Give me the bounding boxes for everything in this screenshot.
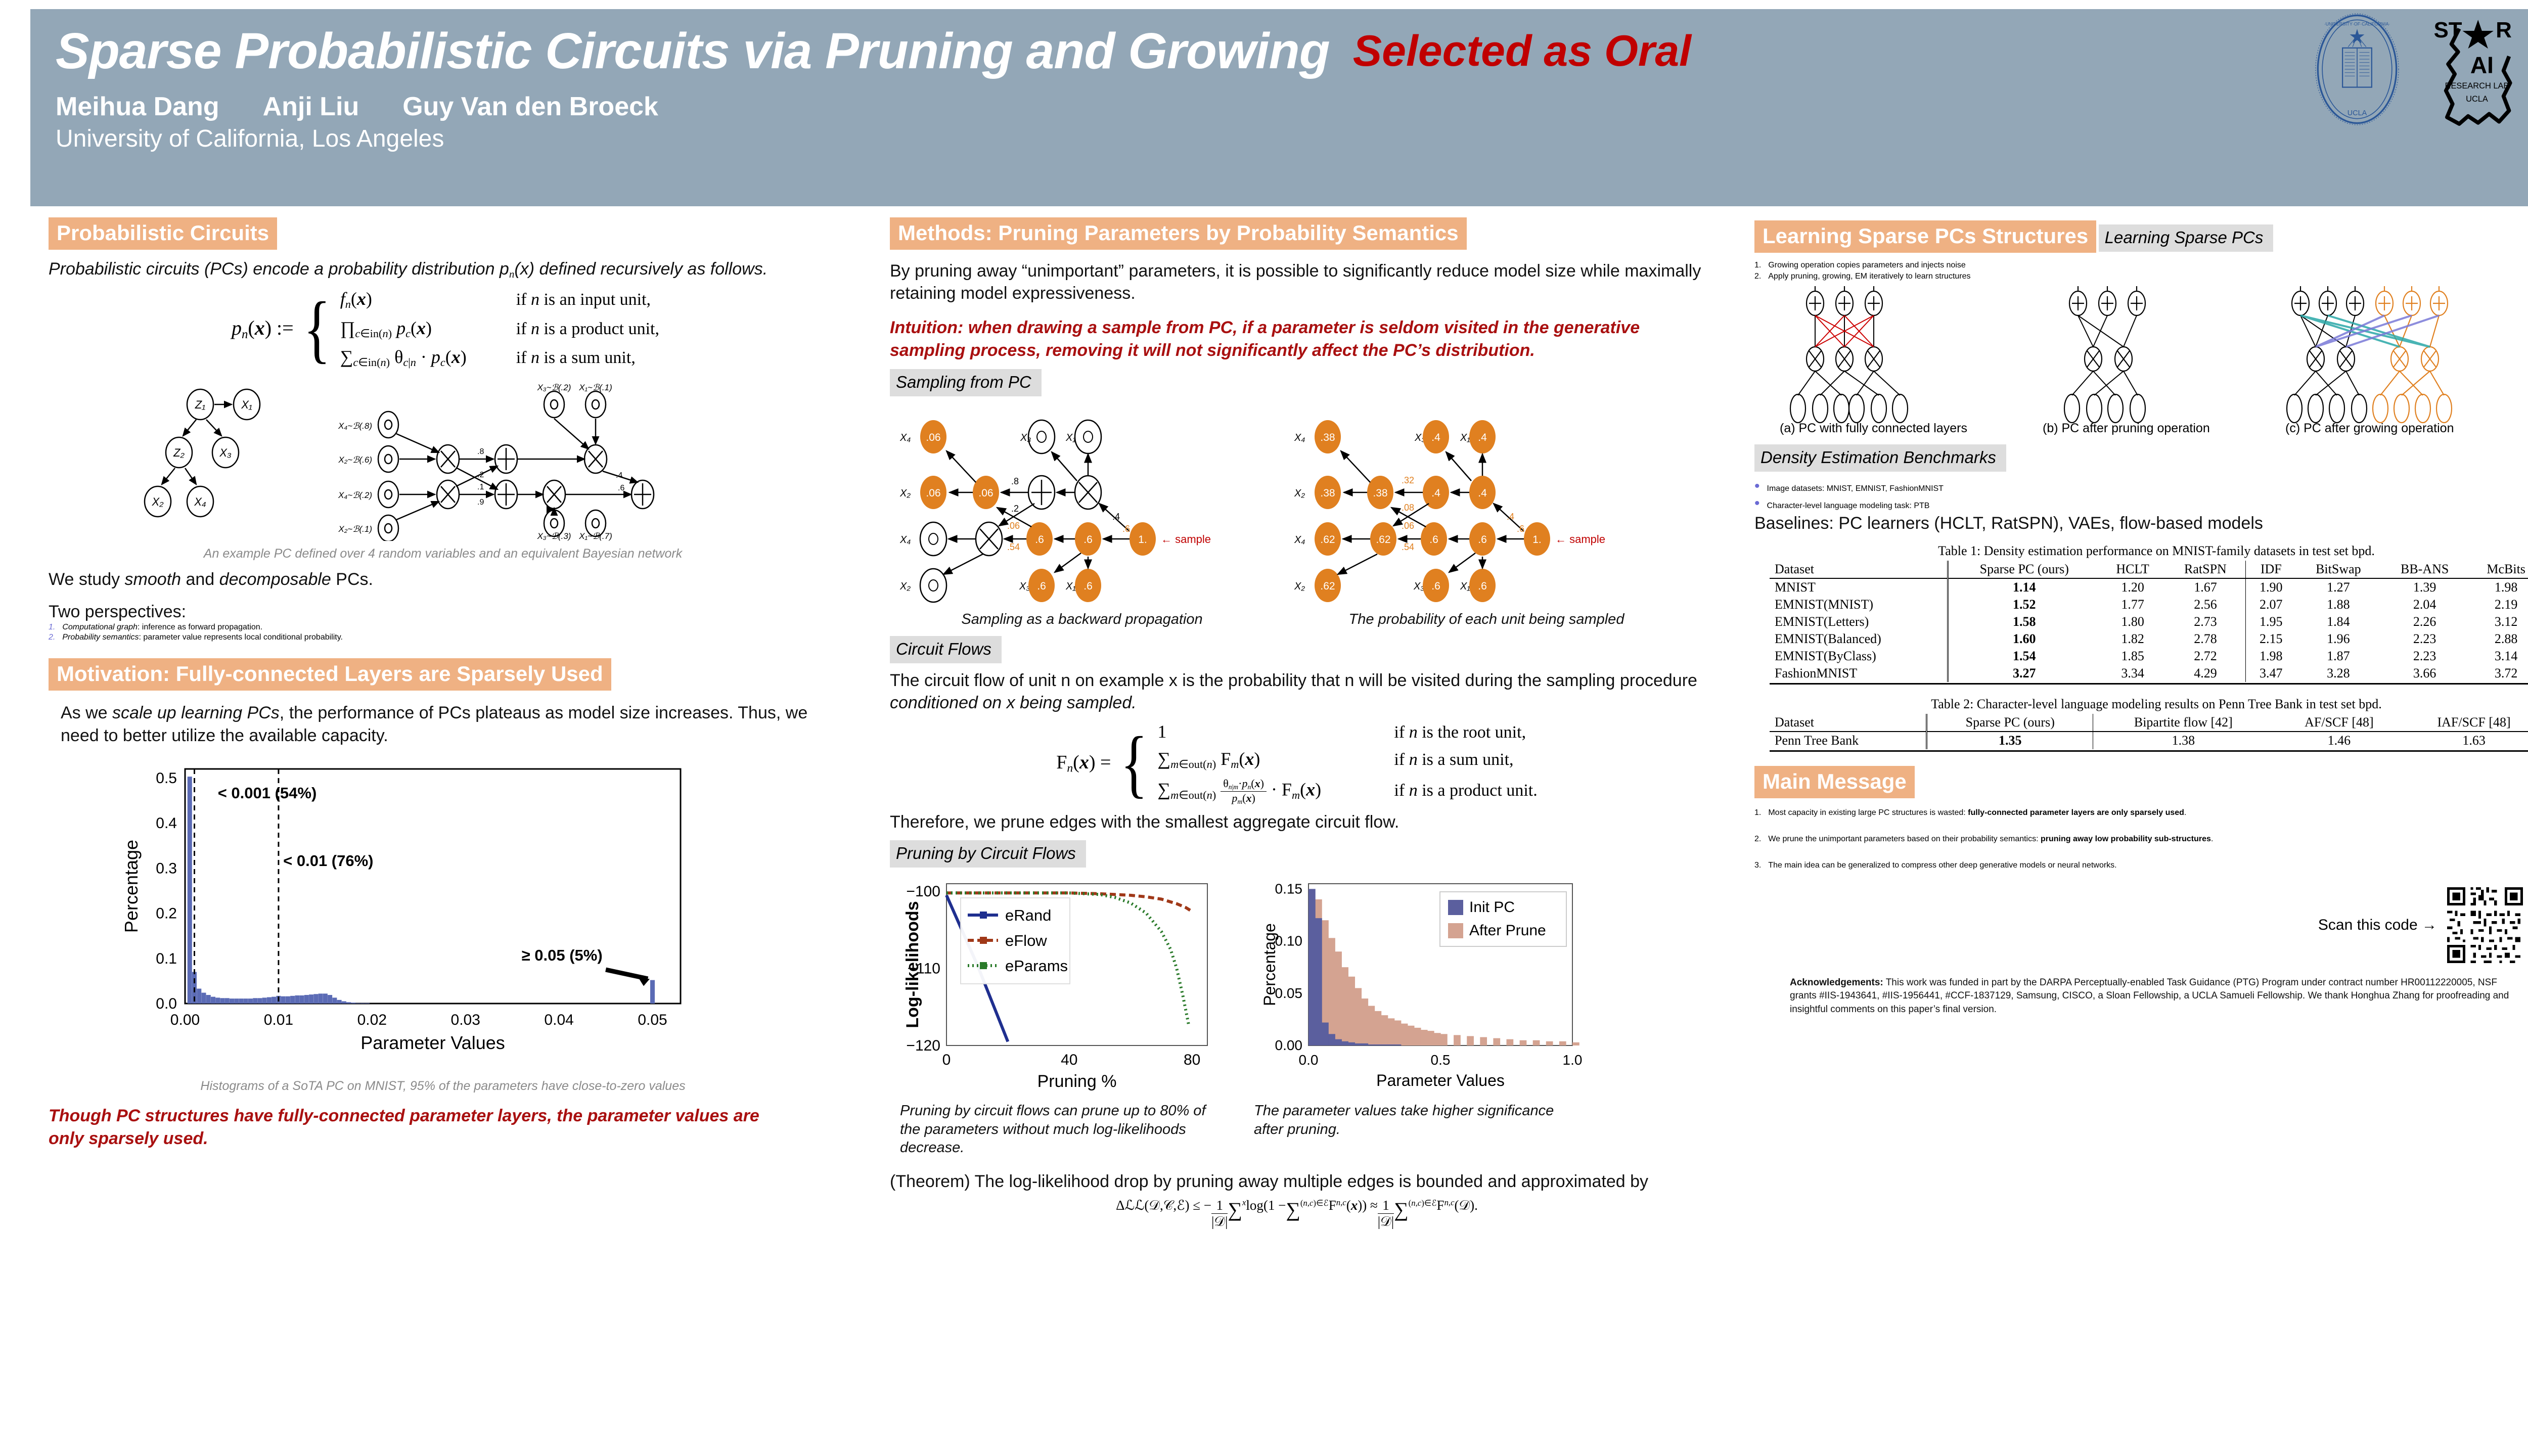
author-1: Meihua Dang bbox=[56, 92, 219, 122]
perspective-1-number: 1. bbox=[49, 623, 55, 632]
svg-text:1.: 1. bbox=[1138, 534, 1147, 545]
equation-lhs: pn(x) := bbox=[232, 316, 294, 342]
table-cell: 2.23 bbox=[2380, 630, 2469, 648]
step-2-label: Apply pruning, growing, EM iteratively t… bbox=[1768, 272, 1970, 281]
t1-col-1: Sparse PC (ours) bbox=[1948, 561, 2100, 578]
svg-text:.2: .2 bbox=[1011, 504, 1019, 514]
table-row: MNIST1.141.201.671.901.271.391.98 bbox=[1770, 578, 2528, 596]
svg-text:.06: .06 bbox=[1402, 521, 1414, 531]
ucla-seal-icon: UCLA ·UNIVERSITY·OF·CALIFORNIA· bbox=[2301, 13, 2413, 125]
svg-text:.08: .08 bbox=[1402, 503, 1414, 513]
svg-text:eRand: eRand bbox=[1005, 906, 1051, 924]
table-cell: 1.88 bbox=[2296, 596, 2380, 613]
svg-text:eFlow: eFlow bbox=[1005, 932, 1047, 949]
case-row-sum: ∑c∈in(n) θc|n · pc(x) if n is a sum unit… bbox=[340, 346, 659, 369]
table-cell: 4.29 bbox=[2165, 665, 2245, 682]
flow-cond-product: if n is a product unit. bbox=[1394, 781, 1537, 800]
table-cell: 1.39 bbox=[2380, 578, 2469, 596]
svg-text:.4: .4 bbox=[1507, 512, 1514, 522]
theorem-equation: Δℒℒ(𝒟,𝒞,ℰ) ≤ − 1 |𝒟| ∑x log(1 − ∑(n,c)∈ℰ… bbox=[890, 1198, 1704, 1230]
intro-paragraph: Probabilistic circuits (PCs) encode a pr… bbox=[49, 258, 842, 281]
learning-steps-list: 1. Growing operation copies parameters a… bbox=[1754, 261, 2528, 281]
left-var-x4-top: X₄ bbox=[899, 432, 911, 443]
main-message-emphasis: fully-connected parameter layers are onl… bbox=[1968, 808, 2184, 817]
intro-text-a: Probabilistic circuits (PCs) encode a pr… bbox=[49, 259, 509, 279]
svg-text:1.0: 1.0 bbox=[1563, 1052, 1583, 1068]
t1-col-0: Dataset bbox=[1770, 561, 1948, 578]
svg-text:·UNIVERSITY·OF·CALIFORNIA·: ·UNIVERSITY·OF·CALIFORNIA· bbox=[2324, 21, 2390, 26]
pc-caption-c: (c) PC after growing operation bbox=[2285, 421, 2454, 435]
table2-bottom-rule bbox=[1770, 750, 2528, 752]
perspective-1-rest: : inference as forward propagation. bbox=[138, 623, 262, 631]
table-cell: 1.82 bbox=[2100, 630, 2165, 648]
svg-text:R: R bbox=[2496, 18, 2512, 42]
bullet-1-label: Image datasets: MNIST, EMNIST, FashionMN… bbox=[1767, 484, 1944, 493]
svg-text:.62: .62 bbox=[1320, 534, 1335, 545]
acknowledgements-label: Acknowledgements: bbox=[1790, 977, 1883, 988]
svg-text:.62: .62 bbox=[1320, 580, 1335, 592]
svg-text:.2: .2 bbox=[477, 471, 484, 479]
circuit-flow-text-a: The circuit flow of unit n on example x … bbox=[890, 671, 1697, 690]
svg-text:0.01: 0.01 bbox=[264, 1012, 293, 1028]
status-badge: Selected as Oral bbox=[1353, 26, 1691, 76]
case-cond-sum: if n is a sum unit, bbox=[516, 348, 636, 368]
table-cell: 2.56 bbox=[2165, 596, 2245, 613]
svg-text:Percentage: Percentage bbox=[1260, 923, 1279, 1006]
svg-text:0.5: 0.5 bbox=[156, 770, 177, 787]
svg-text:Percentage: Percentage bbox=[121, 840, 142, 933]
svg-text:.4: .4 bbox=[1431, 487, 1440, 499]
flow-cond-root: if n is the root unit, bbox=[1394, 723, 1526, 742]
acknowledgements-block: Acknowledgements: This work was funded i… bbox=[1754, 976, 2513, 1016]
sampling-left-caption: Sampling as a backward propagation bbox=[920, 610, 1244, 629]
table-cell: 1.14 bbox=[1948, 578, 2100, 596]
svg-text:.6: .6 bbox=[1517, 524, 1524, 534]
red-conclusion-left: Though PC structures have fully-connecte… bbox=[49, 1105, 787, 1150]
step-1-number: 1. bbox=[1754, 261, 1761, 270]
flow-cond-sum: if n is a sum unit, bbox=[1394, 750, 1513, 769]
svg-text:.4: .4 bbox=[1431, 432, 1440, 443]
svg-text:1.: 1. bbox=[1532, 534, 1542, 545]
page-title: Sparse Probabilistic Circuits via Prunin… bbox=[56, 22, 1330, 80]
table-cell: 1.27 bbox=[2296, 578, 2380, 596]
table2-header-row: Dataset Sparse PC (ours) Bipartite flow … bbox=[1770, 714, 2528, 732]
svg-text:eParams: eParams bbox=[1005, 957, 1068, 975]
table-cell: MNIST bbox=[1770, 578, 1948, 596]
left-var-x1: X₁ bbox=[1065, 432, 1076, 443]
svg-text:.6: .6 bbox=[1478, 534, 1487, 545]
perspectives-list: 1. Computational graph: inference as for… bbox=[49, 623, 842, 642]
qr-code-icon[interactable] bbox=[2447, 887, 2523, 963]
left-var-x3-bot: X₃ bbox=[1019, 581, 1030, 592]
left-var-x2: X₂ bbox=[899, 488, 911, 499]
table-row: EMNIST(Letters)1.581.802.731.951.842.263… bbox=[1770, 613, 2528, 630]
t1-col-5: BitSwap bbox=[2296, 561, 2380, 578]
circuit-flow-equation: Fn(x) = { 1 if n is the root unit, ∑m∈ou… bbox=[890, 721, 1704, 806]
case-cond-product: if n is a product unit, bbox=[516, 320, 659, 339]
table-cell: 3.27 bbox=[1948, 665, 2100, 682]
main-message-list: 1.Most capacity in existing large PC str… bbox=[1754, 808, 2528, 870]
sampling-captions-row: Sampling as a backward propagation The p… bbox=[920, 607, 1704, 629]
svg-text:X₄: X₄ bbox=[1294, 432, 1305, 443]
svg-text:.62: .62 bbox=[1376, 534, 1390, 545]
intro-sub: n bbox=[509, 268, 515, 280]
section-heading-motivation: Motivation: Fully-connected Layers are S… bbox=[49, 658, 611, 691]
table-cell: 1.84 bbox=[2296, 613, 2380, 630]
left-var-x1-bot: X₁ bbox=[1065, 581, 1076, 592]
pc-fully-connected-diagram bbox=[1790, 286, 1908, 423]
table-cell: 2.72 bbox=[2165, 648, 2245, 665]
pc-caption-a: (a) PC with fully connected layers bbox=[1780, 421, 1967, 435]
svg-text:.8: .8 bbox=[1011, 476, 1019, 486]
svg-text:0.15: 0.15 bbox=[1275, 881, 1303, 896]
table-row: FashionMNIST3.273.344.293.473.283.663.72 bbox=[1770, 665, 2528, 682]
svg-text:0.04: 0.04 bbox=[544, 1012, 573, 1028]
svg-text:X₃: X₃ bbox=[219, 446, 232, 459]
svg-text:.1: .1 bbox=[477, 483, 484, 491]
table-cell: 3.47 bbox=[2245, 665, 2296, 682]
column-left: Probabilistic Circuits Probabilistic cir… bbox=[49, 217, 842, 1150]
main-message-text: The main idea can be generalized to comp… bbox=[1768, 861, 2116, 870]
list-item-main-message: 3.The main idea can be generalized to co… bbox=[1754, 861, 2528, 870]
pruning-loglikelihood-chart: 04080−100−110−120Pruning %Log-likelihood… bbox=[900, 874, 1224, 1096]
poster-header: Sparse Probabilistic Circuits via Prunin… bbox=[30, 9, 2528, 206]
svg-text:≥ 0.05 (5%): ≥ 0.05 (5%) bbox=[522, 946, 603, 964]
list-item-bullet-2: Character-level language modeling task: … bbox=[1754, 495, 2528, 512]
main-message-number: 2. bbox=[1754, 835, 1761, 844]
t1-col-3: RatSPN bbox=[2165, 561, 2245, 578]
svg-text:Init PC: Init PC bbox=[1469, 899, 1515, 916]
flow-expr-root: 1 bbox=[1157, 721, 1370, 742]
table-cell: 1.38 bbox=[2093, 732, 2274, 749]
svg-text:0.0: 0.0 bbox=[1299, 1052, 1319, 1068]
svg-text:−100: −100 bbox=[906, 883, 940, 900]
table-cell: 1.98 bbox=[2245, 648, 2296, 665]
table-cell: 2.23 bbox=[2380, 648, 2469, 665]
sample-arrow-label-left: ← sample bbox=[1161, 533, 1211, 545]
star-ai-lab-logo-icon: ST R AI RESEARCH LAB UCLA bbox=[2426, 13, 2527, 129]
table-cell: 3.66 bbox=[2380, 665, 2469, 682]
svg-text:.4: .4 bbox=[1478, 432, 1487, 443]
table-cell: 3.34 bbox=[2100, 665, 2165, 682]
table-cell: 1.95 bbox=[2245, 613, 2296, 630]
svg-text:.38: .38 bbox=[1320, 432, 1335, 443]
table-cell: 1.58 bbox=[1948, 613, 2100, 630]
table-cell: 2.15 bbox=[2245, 630, 2296, 648]
list-item-perspective-1: 1. Computational graph: inference as for… bbox=[49, 623, 842, 632]
flow-case-sum: ∑m∈out(n) Fm(x) if n is a sum unit, bbox=[1157, 748, 1537, 771]
flow-case-product: ∑m∈out(n) θn|m·pn(x) pm(x) · Fm(x) if n … bbox=[1157, 777, 1537, 806]
svg-text:80: 80 bbox=[1184, 1052, 1200, 1068]
svg-text:.6: .6 bbox=[618, 484, 624, 492]
svg-text:X₄~ℬ(.2): X₄~ℬ(.2) bbox=[338, 490, 372, 500]
perspective-2-em: Probability semantics bbox=[62, 633, 139, 642]
benchmark-bullets: Image datasets: MNIST, EMNIST, FashionMN… bbox=[1754, 478, 2528, 512]
svg-text:Log-likelihoods: Log-likelihoods bbox=[903, 901, 922, 1028]
main-message-number: 3. bbox=[1754, 861, 1761, 870]
left-var-x4-bot: X₄ bbox=[899, 534, 911, 545]
svg-text:Z₁: Z₁ bbox=[195, 398, 205, 411]
svg-text:< 0.01 (76%): < 0.01 (76%) bbox=[283, 852, 373, 870]
table-cell: 3.72 bbox=[2469, 665, 2528, 682]
sample-arrow-label-right: ← sample bbox=[1555, 533, 1605, 545]
main-message-text: We prune the unimportant parameters base… bbox=[1768, 835, 2213, 844]
loglikelihood-chart-container: 04080−100−110−120Pruning %Log-likelihood… bbox=[900, 874, 1224, 1157]
theorem-text: (Theorem) The log-likelihood drop by pru… bbox=[890, 1170, 1704, 1193]
svg-text:X₂: X₂ bbox=[151, 495, 164, 508]
t1-col-4: IDF bbox=[2245, 561, 2296, 578]
table-cell: 1.96 bbox=[2296, 630, 2380, 648]
case-expr-input: fn(x) bbox=[340, 288, 492, 311]
svg-text:X₃: X₃ bbox=[1413, 581, 1424, 592]
flow-equation-lhs: Fn(x) = bbox=[1056, 751, 1111, 776]
pc-definition-equation: pn(x) := { fn(x) if n is an input unit, … bbox=[49, 288, 842, 369]
list-item-perspective-2: 2. Probability semantics: parameter valu… bbox=[49, 633, 842, 642]
list-item-main-message: 2.We prune the unimportant parameters ba… bbox=[1754, 835, 2528, 844]
svg-text:.32: .32 bbox=[1402, 475, 1414, 485]
svg-text:.6: .6 bbox=[1429, 534, 1438, 545]
svg-text:AI: AI bbox=[2470, 52, 2494, 78]
table-cell: EMNIST(Letters) bbox=[1770, 613, 1948, 630]
t1-col-2: HCLT bbox=[2100, 561, 2165, 578]
svg-text:0.00: 0.00 bbox=[1275, 1037, 1303, 1053]
table-cell: 1.20 bbox=[2100, 578, 2165, 596]
pruning-charts-row: 04080−100−110−120Pruning %Log-likelihood… bbox=[900, 874, 1704, 1157]
perspective-2-rest: : parameter value represents local condi… bbox=[139, 633, 343, 642]
svg-text:X₂~ℬ(.1): X₂~ℬ(.1) bbox=[338, 524, 372, 534]
table-cell: 1.90 bbox=[2245, 578, 2296, 596]
smooth-decomposable-line: We study smooth and decomposable PCs. bbox=[49, 568, 842, 590]
svg-text:.6: .6 bbox=[1037, 580, 1046, 592]
case-expr-sum: ∑c∈in(n) θc|n · pc(x) bbox=[340, 346, 492, 369]
pc-caption-b: (b) PC after pruning operation bbox=[2043, 421, 2210, 435]
left-var-x2-bot: X₂ bbox=[899, 581, 911, 592]
motivation-paragraph: As we scale up learning PCs, the perform… bbox=[61, 702, 819, 746]
svg-text:Parameter Values: Parameter Values bbox=[360, 1032, 505, 1053]
main-message-number: 1. bbox=[1754, 808, 1761, 817]
loglikelihood-caption: Pruning by circuit flows can prune up to… bbox=[900, 1102, 1224, 1157]
table-cell: 1.67 bbox=[2165, 578, 2245, 596]
bullet-2-label: Character-level language modeling task: … bbox=[1767, 502, 1930, 511]
affiliation: University of California, Los Angeles bbox=[56, 125, 2528, 153]
table-cell: 2.73 bbox=[2165, 613, 2245, 630]
table-cell: 1.80 bbox=[2100, 613, 2165, 630]
t2-col-3: AF/SCF [48] bbox=[2274, 714, 2405, 732]
table-cell: 1.46 bbox=[2274, 732, 2405, 749]
methods-paragraph: By pruning away “unimportant” parameters… bbox=[890, 260, 1704, 304]
table2-body: Penn Tree Bank1.351.381.461.63 bbox=[1770, 732, 2528, 749]
case-row-product: ∏c∈in(n) pc(x) if n is a product unit, bbox=[340, 317, 659, 340]
author-2: Anji Liu bbox=[263, 92, 359, 122]
svg-text:X₄: X₄ bbox=[1294, 534, 1305, 545]
section-heading-methods: Methods: Pruning Parameters by Probabili… bbox=[890, 217, 1467, 250]
svg-text:.54: .54 bbox=[1402, 542, 1414, 552]
table-cell: 1.98 bbox=[2469, 578, 2528, 596]
author-3: Guy Van den Broeck bbox=[402, 92, 658, 122]
column-middle: Methods: Pruning Parameters by Probabili… bbox=[890, 217, 1704, 1235]
svg-text:0.2: 0.2 bbox=[156, 905, 177, 922]
table-cell: FashionMNIST bbox=[1770, 665, 1948, 682]
t1-col-6: BB-ANS bbox=[2380, 561, 2469, 578]
main-message-text: Most capacity in existing large PC struc… bbox=[1768, 808, 2186, 817]
param-values-chart: 0.00.51.00.000.050.100.15Parameter Value… bbox=[1254, 874, 1588, 1096]
svg-text:.6: .6 bbox=[1084, 580, 1093, 592]
sampling-right-caption: The probability of each unit being sampl… bbox=[1310, 610, 1663, 629]
svg-text:Pruning %: Pruning % bbox=[1037, 1072, 1117, 1091]
svg-text:0.05: 0.05 bbox=[638, 1012, 667, 1028]
title-row: Sparse Probabilistic Circuits via Prunin… bbox=[56, 22, 2528, 80]
table-cell: Penn Tree Bank bbox=[1770, 732, 1927, 749]
svg-text:0.4: 0.4 bbox=[156, 815, 177, 832]
acknowledgements-text: Acknowledgements: This work was funded i… bbox=[1790, 976, 2513, 1016]
table-cell: EMNIST(MNIST) bbox=[1770, 596, 1948, 613]
svg-text:.06: .06 bbox=[978, 487, 993, 499]
author-list: Meihua Dang Anji Liu Guy Van den Broeck bbox=[56, 92, 2528, 122]
table-cell: 2.88 bbox=[2469, 630, 2528, 648]
svg-text:.6: .6 bbox=[1084, 534, 1093, 545]
table1-bottom-rule bbox=[1770, 683, 2528, 685]
svg-text:−120: −120 bbox=[906, 1037, 940, 1054]
case-cond-input: if n is an input unit, bbox=[516, 290, 651, 309]
table-cell: 1.52 bbox=[1948, 596, 2100, 613]
svg-text:0.03: 0.03 bbox=[451, 1012, 480, 1028]
svg-text:.38: .38 bbox=[1320, 487, 1335, 499]
prune-edges-conclusion: Therefore, we prune edges with the small… bbox=[890, 811, 1704, 833]
list-item-main-message: 1.Most capacity in existing large PC str… bbox=[1754, 808, 2528, 817]
paramvalues-caption: The parameter values take higher signifi… bbox=[1254, 1102, 1567, 1139]
perspective-2-text: Probability semantics: parameter value r… bbox=[62, 633, 343, 642]
table-cell: EMNIST(Balanced) bbox=[1770, 630, 1948, 648]
svg-text:.6: .6 bbox=[1035, 534, 1044, 545]
table1: Dataset Sparse PC (ours) HCLT RatSPN IDF… bbox=[1770, 561, 2528, 682]
svg-text:0.05: 0.05 bbox=[1275, 985, 1303, 1001]
table-header-row: Dataset Sparse PC (ours) HCLT RatSPN IDF… bbox=[1770, 561, 2528, 578]
subheading-learning-sparse-pcs: Learning Sparse PCs bbox=[2099, 224, 2274, 252]
pc-grown-diagram bbox=[2287, 286, 2452, 423]
t2-col-4: IAF/SCF [48] bbox=[2405, 714, 2528, 732]
svg-text:X₂: X₂ bbox=[1294, 488, 1305, 499]
svg-text:.06: .06 bbox=[1007, 521, 1020, 531]
svg-text:X₄: X₄ bbox=[194, 495, 206, 508]
acknowledgements-body: This work was funded in part by the DARP… bbox=[1790, 977, 2509, 1014]
list-item-bullet-1: Image datasets: MNIST, EMNIST, FashionMN… bbox=[1754, 478, 2528, 495]
table-row: EMNIST(MNIST)1.521.772.562.071.882.042.1… bbox=[1770, 596, 2528, 613]
table-cell: 1.87 bbox=[2296, 648, 2380, 665]
step-2-number: 2. bbox=[1754, 272, 1761, 281]
table-cell: 2.07 bbox=[2245, 596, 2296, 613]
svg-text:0.00: 0.00 bbox=[170, 1012, 200, 1028]
flow-case-root: 1 if n is the root unit, bbox=[1157, 721, 1537, 742]
perspective-1-em: Computational graph bbox=[62, 623, 138, 631]
flow-brace-glyph: { bbox=[1120, 733, 1148, 794]
svg-text:.06: .06 bbox=[926, 432, 940, 443]
logos: UCLA ·UNIVERSITY·OF·CALIFORNIA· ST R AI … bbox=[2301, 13, 2527, 129]
histogram-caption: Histograms of a SoTA PC on MNIST, 95% of… bbox=[49, 1079, 837, 1094]
table1-body: MNIST1.141.201.671.901.271.391.98EMNIST(… bbox=[1770, 578, 2528, 682]
param-histogram-mnist-chart: 0.000.010.020.030.040.050.00.10.20.30.40… bbox=[109, 755, 696, 1078]
intuition-text: Intuition: when drawing a sample from PC… bbox=[890, 316, 1704, 362]
table-cell: 1.85 bbox=[2100, 648, 2165, 665]
svg-text:0.5: 0.5 bbox=[1431, 1052, 1451, 1068]
table-cell: 1.77 bbox=[2100, 596, 2165, 613]
scan-code-label: Scan this code → bbox=[2318, 917, 2437, 934]
pc-structure-diagrams: (a) PC with fully connected layers (b) P… bbox=[1754, 283, 2528, 435]
motivation-text-a: As we bbox=[61, 703, 112, 722]
circuit-flow-em: conditioned on x being sampled. bbox=[890, 693, 1137, 712]
svg-text:0: 0 bbox=[942, 1052, 951, 1068]
table-cell: EMNIST(ByClass) bbox=[1770, 648, 1948, 665]
table-cell: 1.35 bbox=[1927, 732, 2093, 749]
t1-col-7: McBits bbox=[2469, 561, 2528, 578]
table-row: EMNIST(ByClass)1.541.852.721.981.872.233… bbox=[1770, 648, 2528, 665]
table-row: Penn Tree Bank1.351.381.461.63 bbox=[1770, 732, 2528, 749]
svg-text:.4: .4 bbox=[616, 471, 622, 480]
table-cell: 2.04 bbox=[2380, 596, 2469, 613]
motivation-em: scale up learning PCs bbox=[112, 703, 280, 722]
subheading-circuit-flows: Circuit Flows bbox=[890, 636, 1002, 663]
scan-row: Scan this code → bbox=[1754, 887, 2528, 963]
svg-text:0.0: 0.0 bbox=[156, 995, 177, 1012]
svg-text:.8: .8 bbox=[477, 447, 484, 456]
paramvalues-chart-container: 0.00.51.00.000.050.100.15Parameter Value… bbox=[1254, 874, 1588, 1157]
section-heading-main-message: Main Message bbox=[1754, 766, 1915, 798]
flow-expr-sum: ∑m∈out(n) Fm(x) bbox=[1157, 748, 1370, 771]
svg-text:X₂~ℬ(.6): X₂~ℬ(.6) bbox=[338, 455, 372, 465]
svg-text:.6: .6 bbox=[1478, 580, 1487, 592]
svg-text:.4: .4 bbox=[1478, 487, 1487, 499]
intro-text-b: (x) defined recursively as follows. bbox=[514, 259, 768, 279]
table-cell: 2.78 bbox=[2165, 630, 2245, 648]
svg-text:.06: .06 bbox=[926, 487, 940, 499]
list-item-step-1: 1. Growing operation copies parameters a… bbox=[1754, 261, 2528, 270]
t2-col-0: Dataset bbox=[1770, 714, 1927, 732]
column-right: Learning Sparse PCs Structures Learning … bbox=[1754, 217, 2528, 1016]
table2: Dataset Sparse PC (ours) Bipartite flow … bbox=[1770, 714, 2528, 749]
table1-title: Table 1: Density estimation performance … bbox=[1770, 543, 2528, 559]
list-item-step-2: 2. Apply pruning, growing, EM iterativel… bbox=[1754, 272, 2528, 281]
table-cell: 3.12 bbox=[2469, 613, 2528, 630]
svg-text:0.3: 0.3 bbox=[156, 860, 177, 877]
svg-text:X₁: X₁ bbox=[241, 398, 252, 411]
case-expr-product: ∏c∈in(n) pc(x) bbox=[340, 317, 492, 340]
table1-container: Table 1: Density estimation performance … bbox=[1754, 543, 2528, 685]
main-message-emphasis: pruning away low probability sub-structu… bbox=[2041, 835, 2211, 843]
svg-text:Parameter Values: Parameter Values bbox=[1376, 1071, 1505, 1089]
svg-text:.6: .6 bbox=[1122, 524, 1130, 534]
table-cell: 1.54 bbox=[1948, 648, 2100, 665]
t2-col-1: Sparse PC (ours) bbox=[1927, 714, 2093, 732]
baselines-line: Baselines: PC learners (HCLT, RatSPN), V… bbox=[1754, 512, 2528, 534]
svg-text:.6: .6 bbox=[1431, 580, 1440, 592]
perspectives-intro: Two perspectives: bbox=[49, 601, 842, 623]
circuit-flow-paragraph: The circuit flow of unit n on example x … bbox=[890, 669, 1704, 714]
perspective-2-number: 2. bbox=[49, 633, 55, 642]
svg-text:< 0.001 (54%): < 0.001 (54%) bbox=[218, 784, 317, 802]
table-cell: 3.14 bbox=[2469, 648, 2528, 665]
svg-text:Z₂: Z₂ bbox=[173, 446, 185, 459]
svg-text:.9: .9 bbox=[477, 498, 484, 507]
table-row: EMNIST(Balanced)1.601.822.782.151.962.23… bbox=[1770, 630, 2528, 648]
svg-text:X₂: X₂ bbox=[1294, 581, 1305, 592]
table2-container: Table 2: Character-level language modeli… bbox=[1754, 697, 2528, 752]
subheading-pruning-by-circuit-flows: Pruning by Circuit Flows bbox=[890, 840, 1086, 868]
subheading-density-benchmarks: Density Estimation Benchmarks bbox=[1754, 444, 2006, 472]
svg-text:X₁: X₁ bbox=[1460, 432, 1470, 443]
subheading-sampling-from-pc: Sampling from PC bbox=[890, 369, 1042, 396]
section-heading-learning-sparse-pcs: Learning Sparse PCs Structures bbox=[1754, 220, 2096, 253]
pc-pruned-diagram bbox=[2064, 286, 2145, 423]
table-cell: 2.26 bbox=[2380, 613, 2469, 630]
